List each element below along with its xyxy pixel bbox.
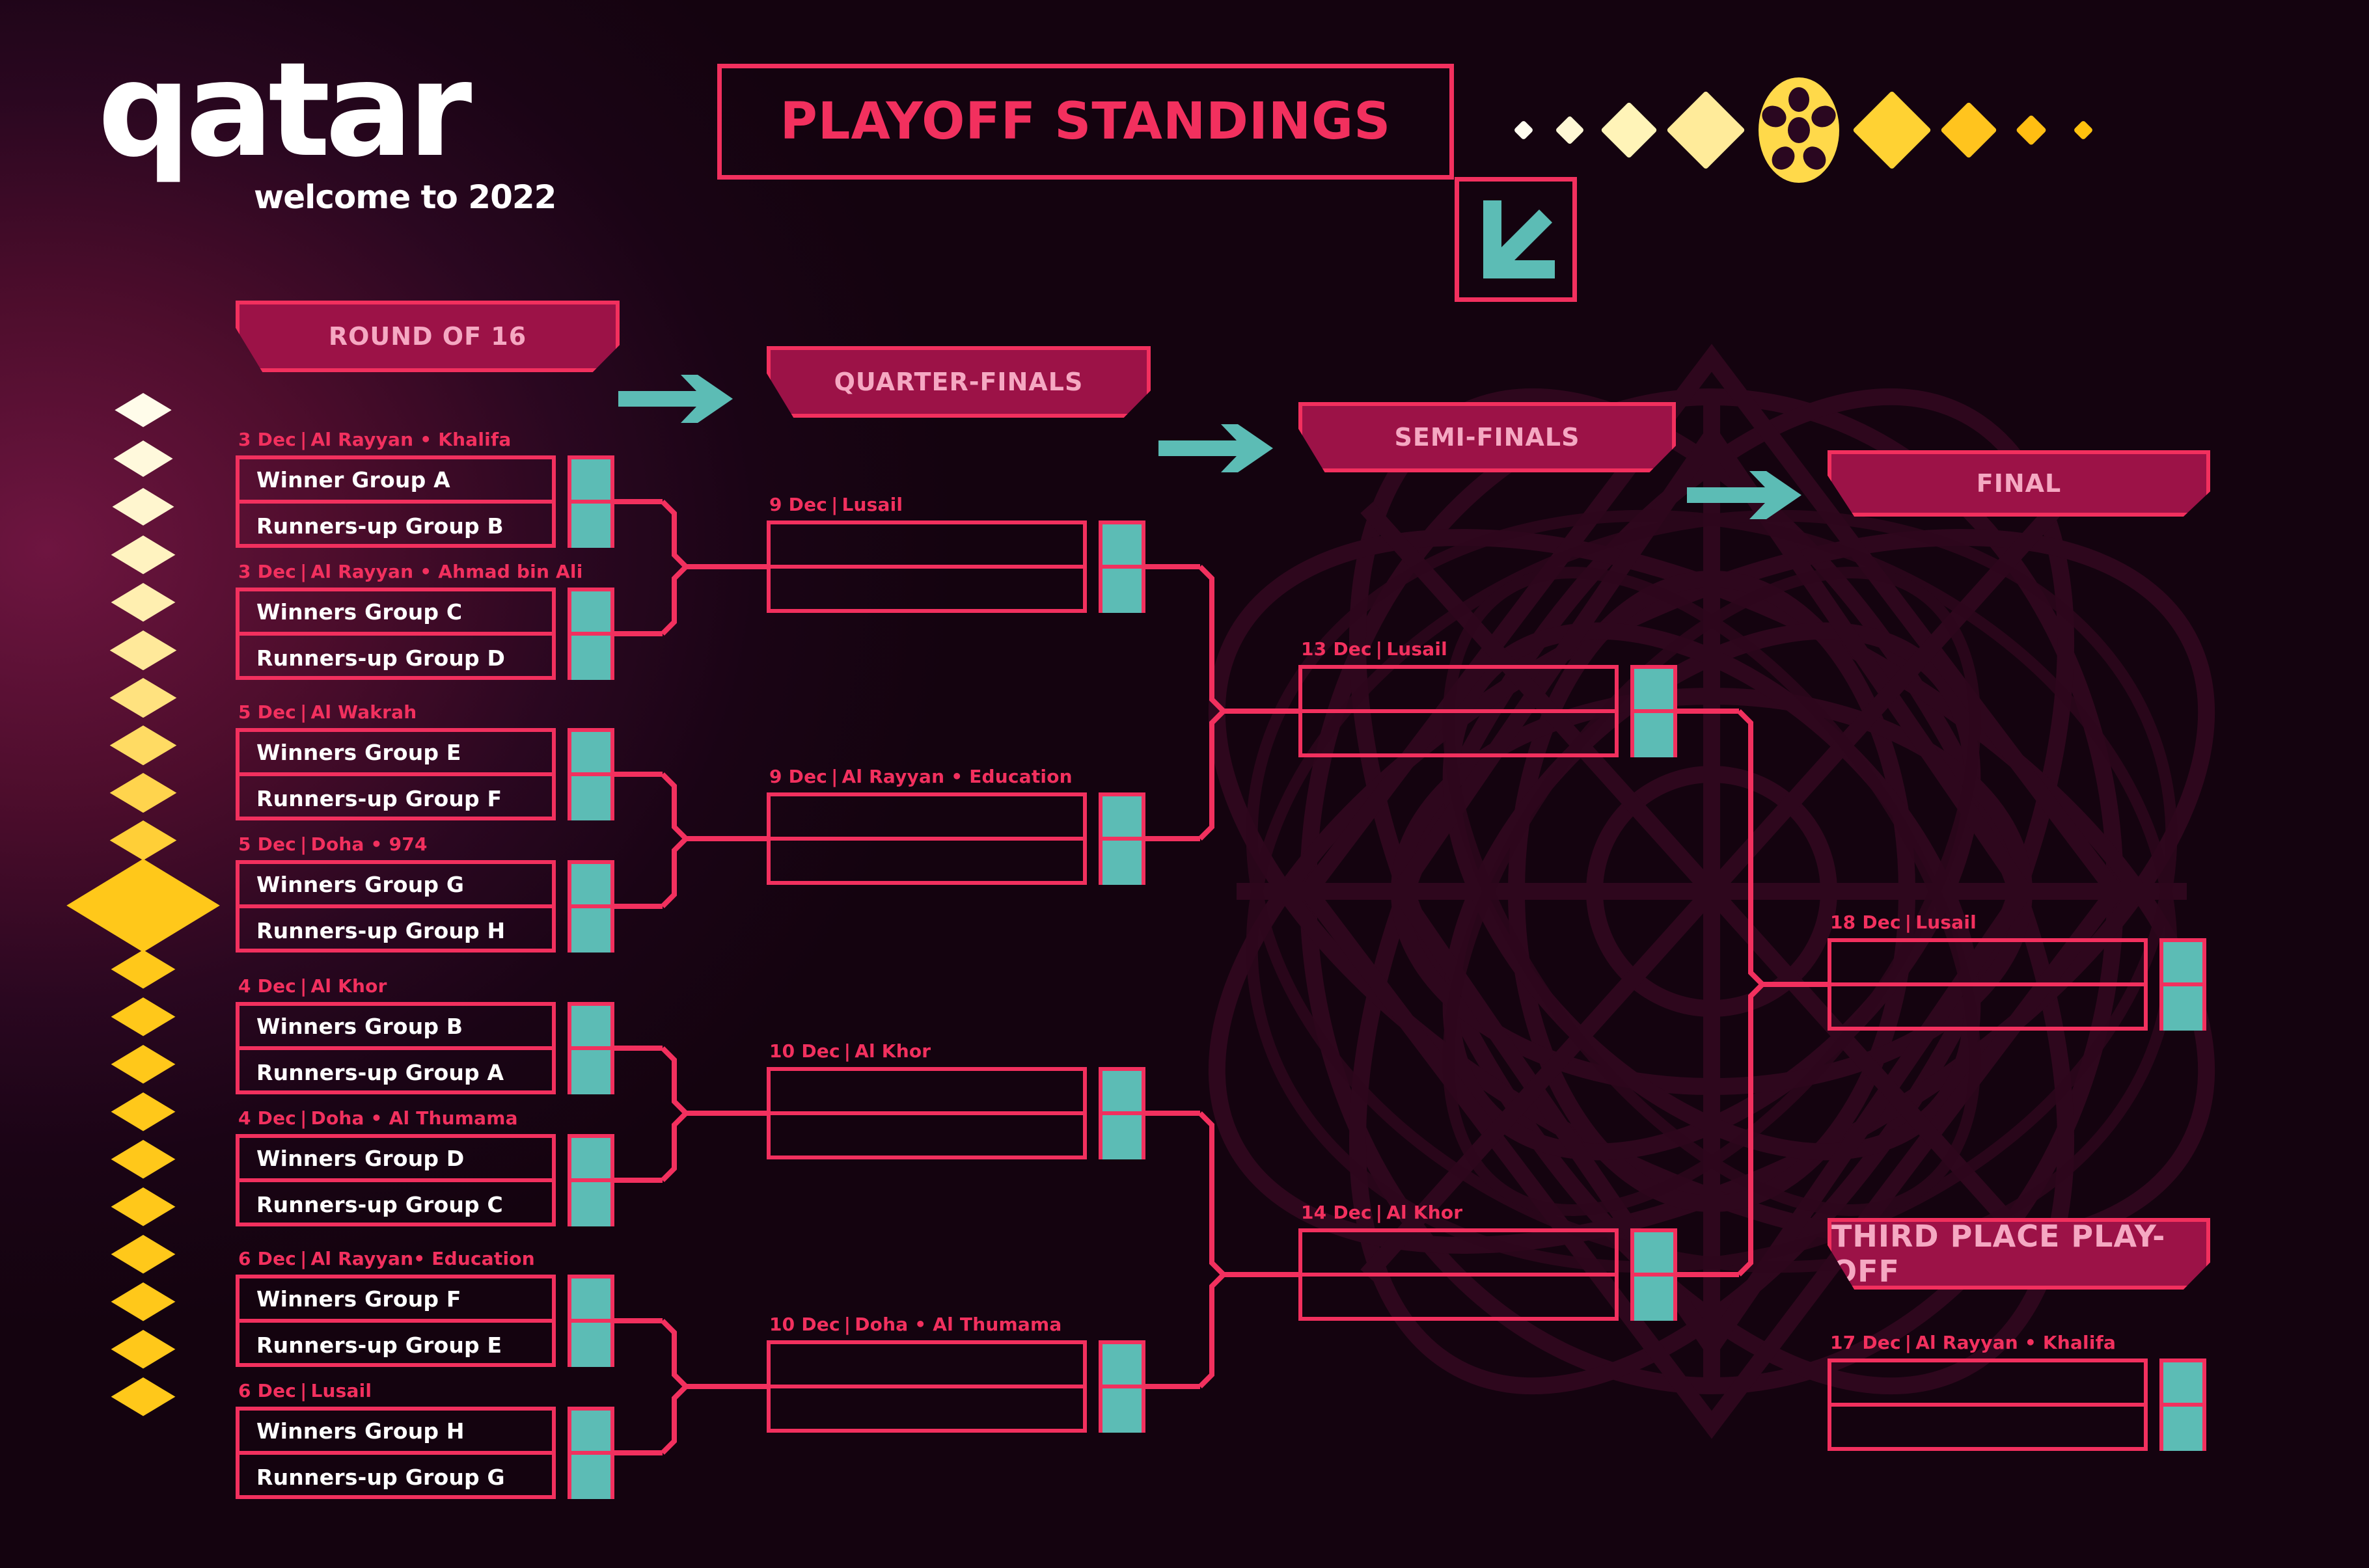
match-venue: Al Rayyan • Education — [842, 766, 1073, 787]
label-separator: | — [296, 561, 310, 582]
match-info-label: 3 Dec|Al Rayyan • Ahmad bin Ali — [238, 561, 583, 582]
match-venue: Doha • 974 — [311, 833, 428, 855]
label-separator: | — [1372, 638, 1386, 660]
score-cell-home[interactable] — [1102, 1071, 1142, 1115]
match-round-of-16-7: 6 Dec|Al Rayyan• EducationWinners Group … — [236, 1275, 614, 1367]
match-quarter-final-4: 10 Dec|Doha • Al Thumama — [767, 1340, 1145, 1433]
score-cell-away[interactable] — [2163, 986, 2202, 1031]
team-slots[interactable] — [767, 520, 1087, 613]
diamond-decor — [1513, 120, 1533, 140]
score-cell-away[interactable] — [571, 1182, 610, 1226]
diamond-decor — [110, 725, 177, 765]
team-slots[interactable]: Winners Group DRunners-up Group C — [236, 1134, 556, 1226]
score-cell-away[interactable] — [1102, 1115, 1142, 1159]
score-box[interactable] — [1099, 1067, 1145, 1159]
label-separator: | — [296, 1107, 310, 1129]
score-cell-away[interactable] — [1102, 569, 1142, 613]
label-separator: | — [296, 975, 310, 997]
score-box[interactable] — [1099, 792, 1145, 885]
match-date: 13 Dec — [1301, 638, 1372, 660]
label-separator: | — [840, 1314, 855, 1335]
team-slot-away[interactable]: Runners-up Group D — [240, 636, 552, 680]
team-slots[interactable]: Winners Group GRunners-up Group H — [236, 860, 556, 953]
match-info-label: 9 Dec|Lusail — [769, 494, 903, 515]
label-separator: | — [1901, 912, 1915, 933]
round-header-label: SEMI-FINALS — [1395, 423, 1580, 452]
match-venue: Lusail — [1915, 912, 1977, 933]
match-venue: Lusail — [311, 1380, 372, 1401]
match-third-place-play-off: 17 Dec|Al Rayyan • Khalifa — [1828, 1358, 2206, 1451]
label-separator: | — [840, 1040, 855, 1062]
diamond-decor — [2016, 115, 2047, 146]
match-date: 10 Dec — [769, 1314, 840, 1335]
team-slot-away[interactable] — [1831, 986, 2144, 1031]
diamond-decor — [111, 1282, 176, 1321]
team-slot-home[interactable] — [1302, 1232, 1615, 1277]
stage-arrow-to-final — [1687, 470, 1803, 520]
score-cell-home[interactable] — [1634, 1232, 1673, 1277]
match-date: 5 Dec — [238, 833, 296, 855]
score-cell-home[interactable] — [571, 591, 610, 636]
label-separator: | — [296, 833, 310, 855]
diamond-decor-large — [66, 859, 220, 953]
team-slot-away[interactable]: Runners-up Group H — [240, 908, 552, 953]
score-cell-away[interactable] — [571, 636, 610, 680]
round-header-label: THIRD PLACE PLAY-OFF — [1831, 1219, 2206, 1289]
match-info-label: 18 Dec|Lusail — [1830, 912, 1977, 933]
diamond-decor — [110, 820, 177, 860]
match-date: 4 Dec — [238, 1107, 296, 1129]
round-header-round-of-16: ROUND OF 16 — [236, 301, 620, 372]
score-cell-home[interactable] — [2163, 1362, 2202, 1407]
team-slot-away[interactable] — [1302, 1277, 1615, 1321]
label-separator: | — [296, 429, 310, 450]
score-cell-away[interactable] — [1102, 841, 1142, 885]
stage-arrow-to-semi-finals — [1158, 423, 1274, 474]
diamond-decor — [111, 1045, 176, 1084]
score-cell-home[interactable] — [1634, 669, 1673, 713]
team-slot-home[interactable]: Winner Group A — [240, 459, 552, 504]
team-slot-away[interactable]: Runners-up Group B — [240, 504, 552, 548]
team-slot-home[interactable]: Winners Group F — [240, 1278, 552, 1323]
score-cell-home[interactable] — [1102, 1344, 1142, 1388]
round-header-label: FINAL — [1977, 469, 2062, 498]
logo-wordmark: qatar — [98, 46, 618, 176]
match-date: 3 Dec — [238, 561, 296, 582]
score-box[interactable] — [568, 588, 614, 680]
score-box[interactable] — [1630, 1228, 1677, 1321]
score-box[interactable] — [568, 1002, 614, 1094]
team-slot-away[interactable]: Runners-up Group F — [240, 776, 552, 820]
team-slot-home[interactable]: Winners Group B — [240, 1006, 552, 1050]
match-semi-final-2: 14 Dec|Al Khor — [1298, 1228, 1677, 1321]
bracket-poster: qatar welcome to 2022 PLAYOFF STANDINGS — [0, 0, 2369, 1568]
match-round-of-16-1: 3 Dec|Al Rayyan • KhalifaWinner Group AR… — [236, 455, 614, 548]
diamond-decor — [111, 1140, 176, 1179]
match-info-label: 4 Dec|Doha • Al Thumama — [238, 1107, 518, 1129]
match-venue: Doha • Al Thumama — [311, 1107, 518, 1129]
round-header-third-place-play-off: THIRD PLACE PLAY-OFF — [1828, 1218, 2210, 1290]
team-slot-home[interactable]: Winners Group G — [240, 864, 552, 908]
diamond-decor — [2073, 120, 2093, 140]
score-cell-away[interactable] — [1634, 1277, 1673, 1321]
match-info-label: 4 Dec|Al Khor — [238, 975, 387, 997]
score-box[interactable] — [568, 1134, 614, 1226]
score-box[interactable] — [568, 455, 614, 548]
score-cell-away[interactable] — [571, 908, 610, 953]
team-slot-home[interactable] — [1831, 1362, 2144, 1407]
diamond-decor — [110, 678, 177, 718]
match-venue: Al Rayyan • Khalifa — [311, 429, 512, 450]
team-slot-home[interactable]: Winners Group C — [240, 591, 552, 636]
page-title-box: PLAYOFF STANDINGS — [717, 64, 1454, 180]
team-slot-away[interactable] — [771, 841, 1083, 885]
match-venue: Al Wakrah — [311, 701, 417, 723]
match-info-label: 5 Dec|Doha • 974 — [238, 833, 428, 855]
film-reel-icon — [1753, 76, 1844, 184]
diamond-decor — [111, 535, 176, 574]
score-box[interactable] — [568, 728, 614, 820]
label-separator: | — [1372, 1202, 1386, 1223]
diamond-decor — [110, 630, 177, 670]
score-cell-away[interactable] — [1102, 1388, 1142, 1433]
team-slots[interactable] — [1298, 665, 1619, 757]
team-slots[interactable]: Winners Group CRunners-up Group D — [236, 588, 556, 680]
arrow-right-icon — [1158, 423, 1274, 474]
team-slot-away[interactable]: Runners-up Group C — [240, 1182, 552, 1226]
score-cell-away[interactable] — [571, 1050, 610, 1094]
score-cell-home[interactable] — [571, 1006, 610, 1050]
team-slot-home[interactable] — [771, 1344, 1083, 1388]
match-date: 6 Dec — [238, 1248, 296, 1269]
match-date: 9 Dec — [769, 766, 827, 787]
team-slots[interactable] — [767, 792, 1087, 885]
team-slots[interactable]: Winners Group BRunners-up Group A — [236, 1002, 556, 1094]
stage-arrow-to-quarter-finals — [618, 373, 734, 424]
score-cell-away[interactable] — [2163, 1407, 2202, 1451]
match-venue: Al Khor — [1386, 1202, 1462, 1223]
match-round-of-16-4: 5 Dec|Doha • 974Winners Group GRunners-u… — [236, 860, 614, 953]
match-info-label: 14 Dec|Al Khor — [1301, 1202, 1462, 1223]
match-date: 5 Dec — [238, 701, 296, 723]
diamond-decor — [111, 1330, 176, 1369]
diamond-decor — [1555, 115, 1584, 144]
diamond-decor — [111, 950, 176, 989]
score-cell-home[interactable] — [571, 732, 610, 776]
team-slot-away[interactable]: Runners-up Group G — [240, 1455, 552, 1499]
score-box[interactable] — [568, 1407, 614, 1499]
label-separator: | — [1901, 1332, 1915, 1353]
team-slot-home[interactable]: Winners Group D — [240, 1138, 552, 1182]
match-venue: Al Khor — [855, 1040, 931, 1062]
match-quarter-final-3: 10 Dec|Al Khor — [767, 1067, 1145, 1159]
score-cell-away[interactable] — [571, 1323, 610, 1367]
team-slot-away[interactable] — [1302, 713, 1615, 757]
match-round-of-16-5: 4 Dec|Al KhorWinners Group BRunners-up G… — [236, 1002, 614, 1094]
score-cell-home[interactable] — [571, 1278, 610, 1323]
team-slots[interactable]: Winners Group ERunners-up Group F — [236, 728, 556, 820]
score-cell-away[interactable] — [571, 1455, 610, 1499]
match-quarter-final-2: 9 Dec|Al Rayyan • Education — [767, 792, 1145, 885]
match-venue: Al Rayyan • Ahmad bin Ali — [311, 561, 583, 582]
match-info-label: 13 Dec|Lusail — [1301, 638, 1447, 660]
match-date: 4 Dec — [238, 975, 296, 997]
score-box[interactable] — [2159, 1358, 2206, 1451]
match-venue: Doha • Al Thumama — [855, 1314, 1061, 1335]
match-round-of-16-2: 3 Dec|Al Rayyan • Ahmad bin AliWinners G… — [236, 588, 614, 680]
score-box[interactable] — [1099, 1340, 1145, 1433]
score-cell-home[interactable] — [571, 459, 610, 504]
left-diamond-column — [98, 403, 189, 1509]
match-quarter-final-1: 9 Dec|Lusail — [767, 520, 1145, 613]
diamond-decor — [111, 997, 176, 1036]
diamond-decor — [1940, 101, 1997, 159]
diamond-decor — [111, 1187, 176, 1226]
header-diamond-strip — [1516, 78, 2271, 182]
round-header-quarter-finals: QUARTER-FINALS — [767, 346, 1151, 418]
round-header-final: FINAL — [1828, 450, 2210, 517]
team-slots[interactable]: Winner Group ARunners-up Group B — [236, 455, 556, 548]
match-venue: Lusail — [842, 494, 903, 515]
team-slot-away[interactable] — [1831, 1407, 2144, 1451]
score-cell-home[interactable] — [1102, 524, 1142, 569]
team-slots[interactable]: Winners Group HRunners-up Group G — [236, 1407, 556, 1499]
label-separator: | — [296, 1248, 310, 1269]
logo-tagline: welcome to 2022 — [254, 178, 618, 216]
score-cell-home[interactable] — [1102, 796, 1142, 841]
match-date: 14 Dec — [1301, 1202, 1372, 1223]
diamond-decor — [1852, 90, 1932, 170]
match-date: 9 Dec — [769, 494, 827, 515]
arrow-right-icon — [618, 373, 734, 424]
match-venue: Al Rayyan • Khalifa — [1915, 1332, 2116, 1353]
label-separator: | — [296, 701, 310, 723]
match-date: 18 Dec — [1830, 912, 1901, 933]
team-slot-home[interactable]: Winners Group E — [240, 732, 552, 776]
match-info-label: 5 Dec|Al Wakrah — [238, 701, 417, 723]
match-round-of-16-8: 6 Dec|LusailWinners Group HRunners-up Gr… — [236, 1407, 614, 1499]
arrow-down-left-icon — [1477, 200, 1555, 278]
score-cell-home[interactable] — [571, 864, 610, 908]
match-info-label: 3 Dec|Al Rayyan • Khalifa — [238, 429, 511, 450]
match-semi-final-1: 13 Dec|Lusail — [1298, 665, 1677, 757]
team-slot-home[interactable] — [771, 796, 1083, 841]
team-slots[interactable] — [1298, 1228, 1619, 1321]
diamond-decor — [1600, 101, 1658, 159]
diamond-decor — [110, 773, 177, 813]
match-info-label: 9 Dec|Al Rayyan • Education — [769, 766, 1073, 787]
label-separator: | — [296, 1380, 310, 1401]
score-box[interactable] — [1630, 665, 1677, 757]
team-slots[interactable] — [767, 1067, 1087, 1159]
diamond-decor — [1666, 90, 1746, 170]
arrow-right-icon — [1687, 470, 1803, 520]
match-date: 6 Dec — [238, 1380, 296, 1401]
team-slots[interactable] — [1828, 938, 2148, 1031]
match-round-of-16-3: 5 Dec|Al WakrahWinners Group ERunners-up… — [236, 728, 614, 820]
match-info-label: 17 Dec|Al Rayyan • Khalifa — [1830, 1332, 2116, 1353]
score-box[interactable] — [568, 860, 614, 953]
diamond-decor — [113, 440, 172, 477]
match-date: 17 Dec — [1830, 1332, 1901, 1353]
team-slot-away[interactable] — [771, 569, 1083, 613]
match-info-label: 6 Dec|Al Rayyan• Education — [238, 1248, 535, 1269]
diamond-decor — [111, 583, 176, 622]
score-cell-away[interactable] — [571, 776, 610, 820]
round-header-label: QUARTER-FINALS — [834, 368, 1084, 396]
team-slot-away[interactable]: Runners-up Group E — [240, 1323, 552, 1367]
score-cell-home[interactable] — [2163, 942, 2202, 986]
diamond-decor — [111, 1377, 176, 1416]
match-date: 3 Dec — [238, 429, 296, 450]
team-slot-home[interactable] — [1302, 669, 1615, 713]
label-separator: | — [827, 766, 842, 787]
match-venue: Al Rayyan• Education — [311, 1248, 535, 1269]
team-slots[interactable] — [1828, 1358, 2148, 1451]
score-box[interactable] — [2159, 938, 2206, 1031]
diamond-decor — [113, 488, 174, 526]
team-slot-home[interactable]: Winners Group H — [240, 1411, 552, 1455]
page-title: PLAYOFF STANDINGS — [722, 68, 1449, 175]
team-slots[interactable]: Winners Group FRunners-up Group E — [236, 1275, 556, 1367]
team-slot-away[interactable]: Runners-up Group A — [240, 1050, 552, 1094]
qatar-logo: qatar welcome to 2022 — [98, 46, 618, 215]
team-slot-home[interactable] — [1831, 942, 2144, 986]
score-cell-away[interactable] — [1634, 713, 1673, 757]
label-separator: | — [827, 494, 842, 515]
arrow-down-left-box — [1455, 177, 1577, 302]
match-venue: Lusail — [1386, 638, 1447, 660]
score-cell-away[interactable] — [571, 504, 610, 548]
diamond-decor — [111, 1092, 176, 1131]
diamond-decor — [111, 1235, 176, 1274]
diamond-decor — [115, 393, 171, 427]
team-slot-home[interactable] — [771, 524, 1083, 569]
match-info-label: 10 Dec|Doha • Al Thumama — [769, 1314, 1061, 1335]
score-box[interactable] — [568, 1275, 614, 1367]
match-info-label: 6 Dec|Lusail — [238, 1380, 372, 1401]
team-slot-home[interactable] — [771, 1071, 1083, 1115]
team-slots[interactable] — [767, 1340, 1087, 1433]
score-box[interactable] — [1099, 520, 1145, 613]
match-info-label: 10 Dec|Al Khor — [769, 1040, 931, 1062]
match-venue: Al Khor — [311, 975, 387, 997]
score-cell-home[interactable] — [571, 1138, 610, 1182]
round-header-label: ROUND OF 16 — [329, 322, 527, 351]
match-round-of-16-6: 4 Dec|Doha • Al ThumamaWinners Group DRu… — [236, 1134, 614, 1226]
team-slot-away[interactable] — [771, 1115, 1083, 1159]
round-header-semi-finals: SEMI-FINALS — [1298, 402, 1676, 472]
score-cell-home[interactable] — [571, 1411, 610, 1455]
team-slot-away[interactable] — [771, 1388, 1083, 1433]
match-final: 18 Dec|Lusail — [1828, 938, 2206, 1031]
match-date: 10 Dec — [769, 1040, 840, 1062]
